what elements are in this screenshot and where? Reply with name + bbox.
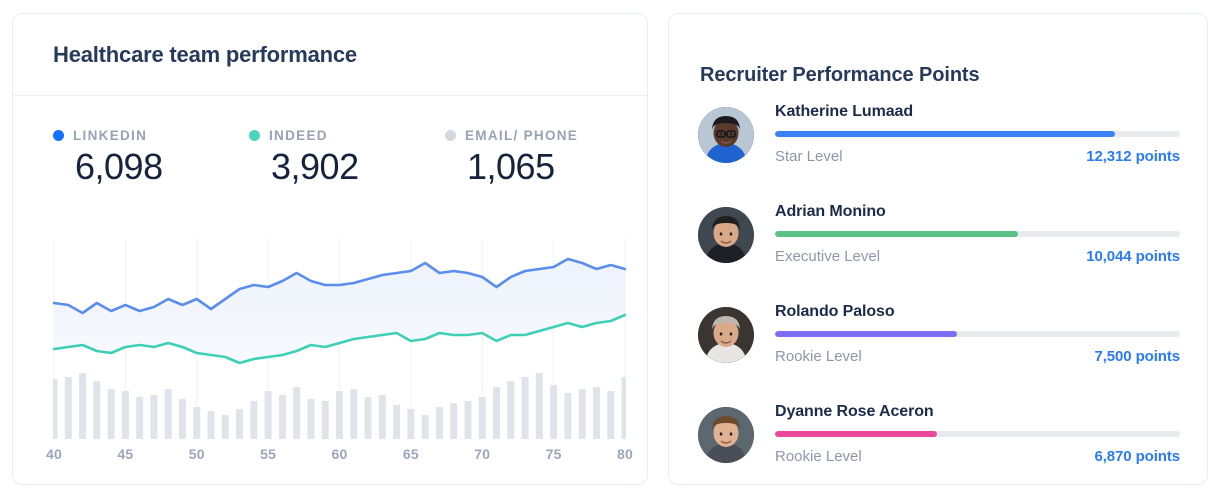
recruiter-row[interactable]: Rolando Paloso Rookie Level 7,500 points — [698, 302, 1180, 402]
performance-card-header: Healthcare team performance — [13, 14, 647, 96]
recruiter-details: Katherine Lumaad Star Level 12,312 point… — [775, 102, 1180, 165]
recruiter-points: 12,312 points — [1086, 148, 1180, 165]
kpi-indeed[interactable]: INDEED 3,902 — [249, 128, 445, 188]
progress-fill — [775, 131, 1115, 137]
recruiter-details: Adrian Monino Executive Level 10,044 poi… — [775, 202, 1180, 265]
kpi-email-phone[interactable]: EMAIL/ PHONE 1,065 — [445, 128, 641, 188]
recruiter-name: Katherine Lumaad — [775, 102, 1180, 122]
progress-fill — [775, 431, 937, 437]
kpi-email-phone-name: EMAIL/ PHONE — [465, 128, 578, 143]
page-title: Healthcare team performance — [53, 42, 357, 68]
kpi-linkedin-label: LINKEDIN — [53, 128, 249, 143]
recruiter-row[interactable]: Adrian Monino Executive Level 10,044 poi… — [698, 202, 1180, 302]
chart-x-tick: 75 — [546, 446, 562, 462]
kpi-linkedin-value: 6,098 — [75, 146, 249, 188]
recruiter-level: Star Level — [775, 148, 843, 165]
legend-dot-icon — [445, 130, 456, 141]
recruiter-level: Rookie Level — [775, 448, 862, 465]
progress-fill — [775, 231, 1018, 237]
progress-track[interactable] — [775, 231, 1180, 237]
recruiter-footer: Star Level 12,312 points — [775, 148, 1180, 165]
progress-track[interactable] — [775, 331, 1180, 337]
avatar[interactable] — [698, 407, 754, 463]
legend-dot-icon — [249, 130, 260, 141]
healthcare-performance-card: Healthcare team performance LINKEDIN 6,0… — [12, 13, 648, 485]
recruiter-name: Dyanne Rose Aceron — [775, 402, 1180, 422]
recruiter-row[interactable]: Katherine Lumaad Star Level 12,312 point… — [698, 102, 1180, 202]
recruiter-level: Rookie Level — [775, 348, 862, 365]
recruiter-footer: Executive Level 10,044 points — [775, 248, 1180, 265]
recruiter-footer: Rookie Level 6,870 points — [775, 448, 1180, 465]
chart-x-tick: 40 — [46, 446, 62, 462]
progress-track[interactable] — [775, 431, 1180, 437]
kpi-indeed-value: 3,902 — [271, 146, 445, 188]
recruiter-level: Executive Level — [775, 248, 880, 265]
chart-x-tick: 50 — [189, 446, 205, 462]
kpi-email-phone-value: 1,065 — [467, 146, 641, 188]
recruiter-list: Katherine Lumaad Star Level 12,312 point… — [698, 102, 1180, 502]
recruiter-name: Adrian Monino — [775, 202, 1180, 222]
chart-x-tick: 55 — [260, 446, 276, 462]
chart-x-tick: 60 — [332, 446, 348, 462]
recruiter-performance-card: Recruiter Performance Points Katherine L… — [668, 13, 1208, 485]
performance-chart[interactable] — [53, 239, 626, 439]
recruiter-details: Dyanne Rose Aceron Rookie Level 6,870 po… — [775, 402, 1180, 465]
chart-x-tick: 80 — [617, 446, 633, 462]
kpi-email-phone-label: EMAIL/ PHONE — [445, 128, 641, 143]
avatar[interactable] — [698, 107, 754, 163]
recruiter-footer: Rookie Level 7,500 points — [775, 348, 1180, 365]
kpi-indeed-label: INDEED — [249, 128, 445, 143]
kpi-indeed-name: INDEED — [269, 128, 328, 143]
recruiter-points: 10,044 points — [1086, 248, 1180, 265]
progress-track[interactable] — [775, 131, 1180, 137]
chart-x-axis: 404550556065707580 — [53, 446, 633, 466]
recruiter-points: 7,500 points — [1095, 348, 1181, 365]
chart-x-tick: 45 — [117, 446, 133, 462]
legend-dot-icon — [53, 130, 64, 141]
kpi-linkedin[interactable]: LINKEDIN 6,098 — [53, 128, 249, 188]
performance-chart-svg — [53, 239, 626, 439]
kpi-legend-row: LINKEDIN 6,098 INDEED 3,902 EMAIL/ PHONE… — [13, 96, 647, 188]
avatar[interactable] — [698, 207, 754, 263]
recruiter-points: 6,870 points — [1095, 448, 1181, 465]
chart-x-tick: 65 — [403, 446, 419, 462]
recruiter-details: Rolando Paloso Rookie Level 7,500 points — [775, 302, 1180, 365]
recruiter-name: Rolando Paloso — [775, 302, 1180, 322]
recruiter-row[interactable]: Dyanne Rose Aceron Rookie Level 6,870 po… — [698, 402, 1180, 502]
kpi-linkedin-name: LINKEDIN — [73, 128, 147, 143]
avatar[interactable] — [698, 307, 754, 363]
progress-fill — [775, 331, 957, 337]
recruiter-card-title: Recruiter Performance Points — [700, 64, 980, 87]
dashboard-page: Healthcare team performance LINKEDIN 6,0… — [0, 0, 1220, 500]
chart-x-tick: 70 — [474, 446, 490, 462]
